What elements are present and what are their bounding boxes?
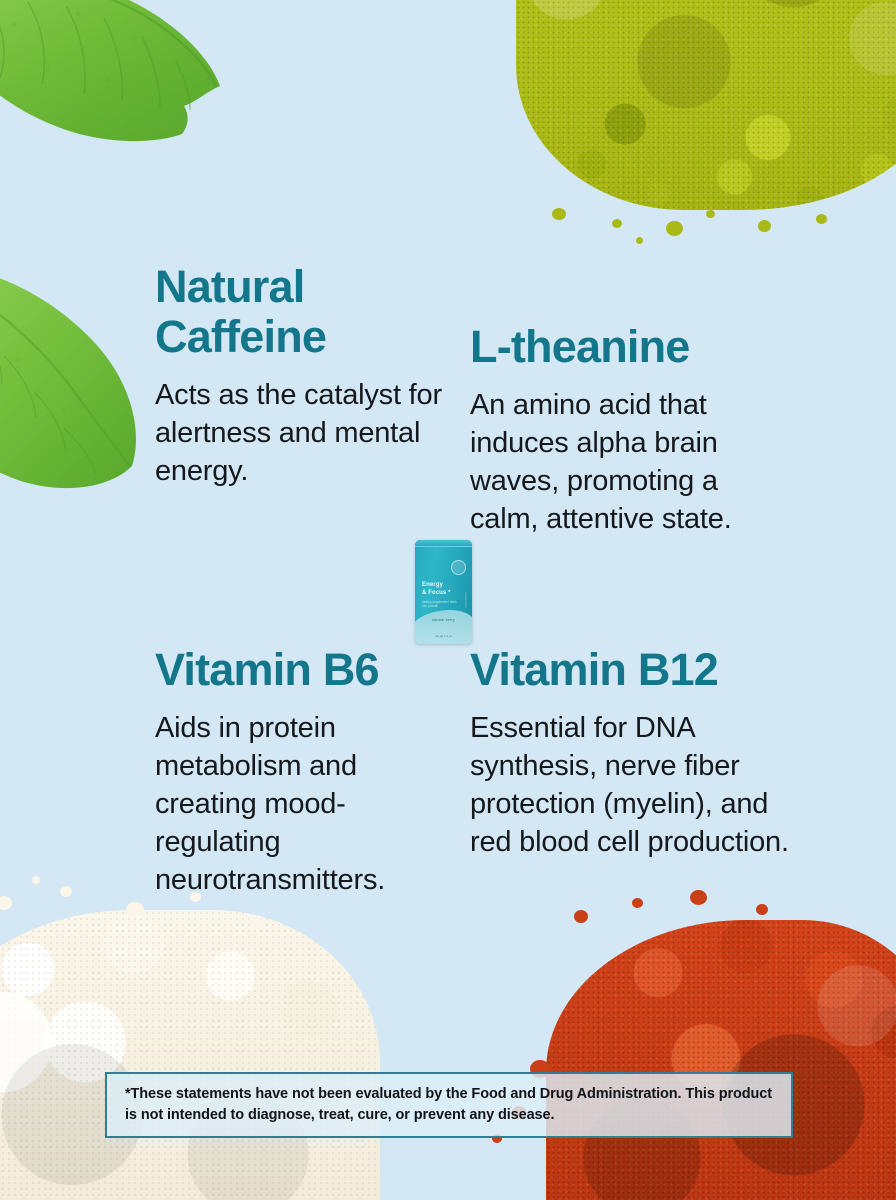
ingredient-card-l-theanine: L-theanine An amino acid that induces al… [470,322,790,538]
pouch-wave-graphic [415,610,472,644]
ingredient-card-natural-caffeine: Natural Caffeine Acts as the catalyst fo… [155,262,455,490]
pouch-side-text: supplement [464,592,468,608]
infographic-page: Natural Caffeine Acts as the catalyst fo… [0,0,896,1200]
pouch-zipper-top [415,540,472,547]
seal-badge-icon [451,560,466,575]
ingredient-description: Aids in protein metabolism and creating … [155,709,455,899]
ingredient-card-vitamin-b12: Vitamin B12 Essential for DNA synthesis,… [470,645,790,861]
pouch-subtext: dietary supplement drink mix powder [422,600,458,609]
pouch-net-weight: net wt 7.4 oz [415,634,472,638]
ingredient-description: An amino acid that induces alpha brain w… [470,386,790,538]
ingredient-description: Acts as the catalyst for alertness and m… [155,376,455,490]
product-pouch: Energy & Focus * dietary supplement drin… [410,536,476,650]
ingredient-title: Vitamin B12 [470,645,790,695]
fda-disclaimer-text: *These statements have not been evaluate… [125,1084,773,1126]
pouch-flavor-label: natural berry [415,618,472,622]
ingredient-title: Natural Caffeine [155,262,455,362]
pouch-name-line1: Energy [422,582,443,588]
ingredient-title: Vitamin B6 [155,645,455,695]
pouch-body: Energy & Focus * dietary supplement drin… [415,540,472,644]
pouch-product-name: Energy & Focus * [422,582,451,597]
ingredient-title: L-theanine [470,322,790,372]
fda-disclaimer-box: *These statements have not been evaluate… [105,1072,793,1138]
ingredient-description: Essential for DNA synthesis, nerve fiber… [470,709,790,861]
pouch-name-line2: & Focus * [422,590,451,596]
ingredient-card-vitamin-b6: Vitamin B6 Aids in protein metabolism an… [155,645,455,899]
